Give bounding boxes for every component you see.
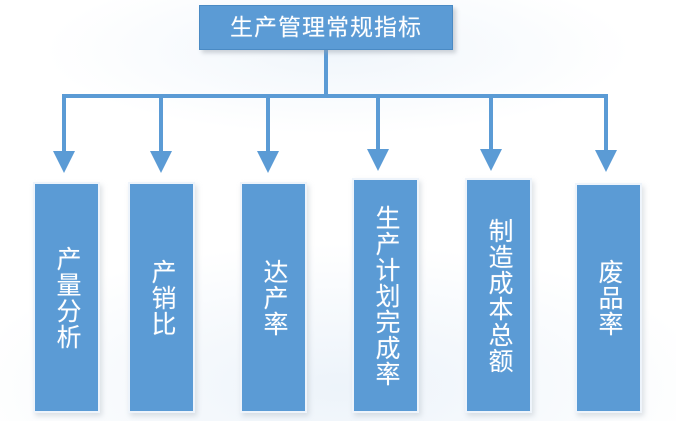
arrowhead-3 [257, 151, 279, 173]
root-node-label: 生产管理常规指标 [230, 16, 422, 39]
leaf-node-4-label: 生产计划完成率 [372, 205, 399, 387]
leaf-node-5: 制造成本总额 [465, 178, 532, 413]
leaf-node-1-label: 产量分析 [53, 246, 80, 350]
arrowhead-6 [595, 150, 617, 172]
leaf-node-3-label: 达产率 [260, 259, 287, 337]
leaf-node-1: 产量分析 [33, 182, 100, 413]
leaf-node-2-label: 产销比 [148, 259, 175, 337]
root-node: 生产管理常规指标 [199, 5, 453, 50]
leaf-node-6-label: 废品率 [595, 259, 622, 337]
leaf-node-6: 废品率 [575, 183, 642, 413]
arrowhead-2 [150, 151, 172, 173]
leaf-node-2: 产销比 [128, 182, 195, 413]
leaf-node-3: 达产率 [240, 182, 307, 413]
org-chart-diagram: 生产管理常规指标 产量分析 产销比 达产率 生产计划完成率 制造成本总额 废品率 [0, 0, 676, 421]
arrowhead-4 [367, 149, 389, 171]
leaf-node-5-label: 制造成本总额 [485, 218, 512, 374]
arrowhead-5 [480, 149, 502, 171]
arrowhead-1 [53, 151, 75, 173]
leaf-node-4: 生产计划完成率 [352, 178, 419, 413]
